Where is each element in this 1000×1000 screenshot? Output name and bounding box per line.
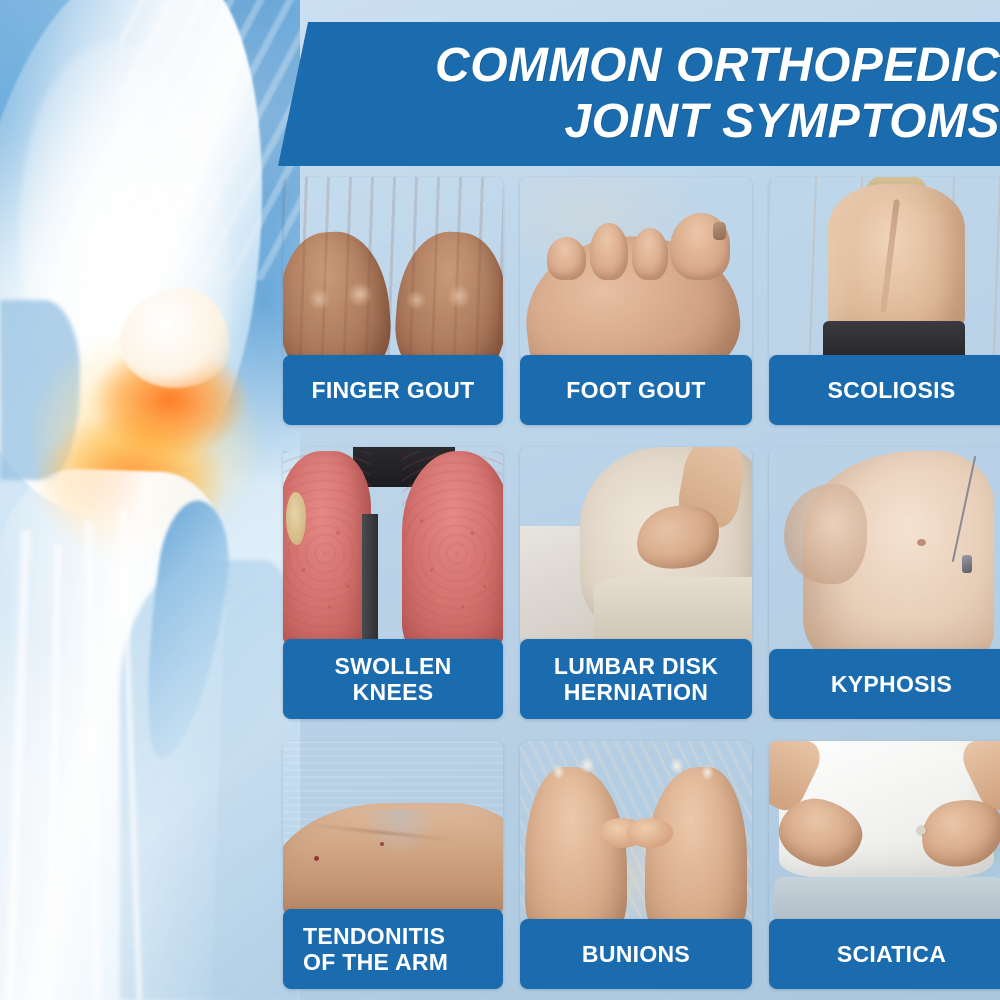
label-foot-gout: FOOT GOUT [520, 355, 752, 425]
photo-hands-on-lower-back [769, 741, 1000, 925]
label-finger-gout: FINGER GOUT [283, 355, 503, 425]
label-scoliosis: SCOLIOSIS [769, 355, 1000, 425]
label-tendonitis-of-the-arm: TENDONITIS OF THE ARM [283, 909, 503, 989]
title-line-2: JOINT SYMPTOMS [564, 94, 1000, 150]
photo-feet-with-bunions [520, 741, 752, 925]
label-sciatica: SCIATICA [769, 919, 1000, 989]
symptom-card-foot-gout[interactable]: FOOT GOUT [520, 177, 752, 425]
photo-side-profile-hunched-back [769, 447, 1000, 655]
label-bunions: BUNIONS [520, 919, 752, 989]
title-line-1: COMMON ORTHOPEDIC [435, 38, 1000, 94]
photo-red-swollen-knees [283, 447, 503, 645]
symptom-card-sciatica[interactable]: SCIATICA [769, 741, 1000, 989]
label-kyphosis: KYPHOSIS [769, 649, 1000, 719]
label-swollen-knees: SWOLLEN KNEES [283, 639, 503, 719]
title-banner: COMMON ORTHOPEDIC JOINT SYMPTOMS [278, 22, 1000, 166]
symptom-card-tendonitis-of-the-arm[interactable]: TENDONITIS OF THE ARM [283, 741, 503, 989]
infographic-poster: COMMON ORTHOPEDIC JOINT SYMPTOMS FINGER … [0, 0, 1000, 1000]
symptom-card-kyphosis[interactable]: KYPHOSIS [769, 447, 1000, 719]
symptom-grid: FINGER GOUT FOOT GOUT [283, 177, 1000, 977]
photo-foot-with-gout-on-wood [520, 177, 752, 361]
knee-joint-illustration [0, 0, 300, 1000]
photo-hands-with-gout-nodules [283, 177, 503, 361]
symptom-card-swollen-knees[interactable]: SWOLLEN KNEES [283, 447, 503, 719]
photo-woman-holding-lower-back [520, 447, 752, 645]
label-lumbar-disk-herniation: LUMBAR DISK HERNIATION [520, 639, 752, 719]
photo-arm-tendonitis [283, 741, 503, 915]
symptom-card-finger-gout[interactable]: FINGER GOUT [283, 177, 503, 425]
calf-soft-tissue [120, 560, 300, 1000]
photo-bare-back-curved-spine [769, 177, 1000, 361]
symptom-card-scoliosis[interactable]: SCOLIOSIS [769, 177, 1000, 425]
symptom-card-lumbar-disk-herniation[interactable]: LUMBAR DISK HERNIATION [520, 447, 752, 719]
symptom-card-bunions[interactable]: BUNIONS [520, 741, 752, 989]
